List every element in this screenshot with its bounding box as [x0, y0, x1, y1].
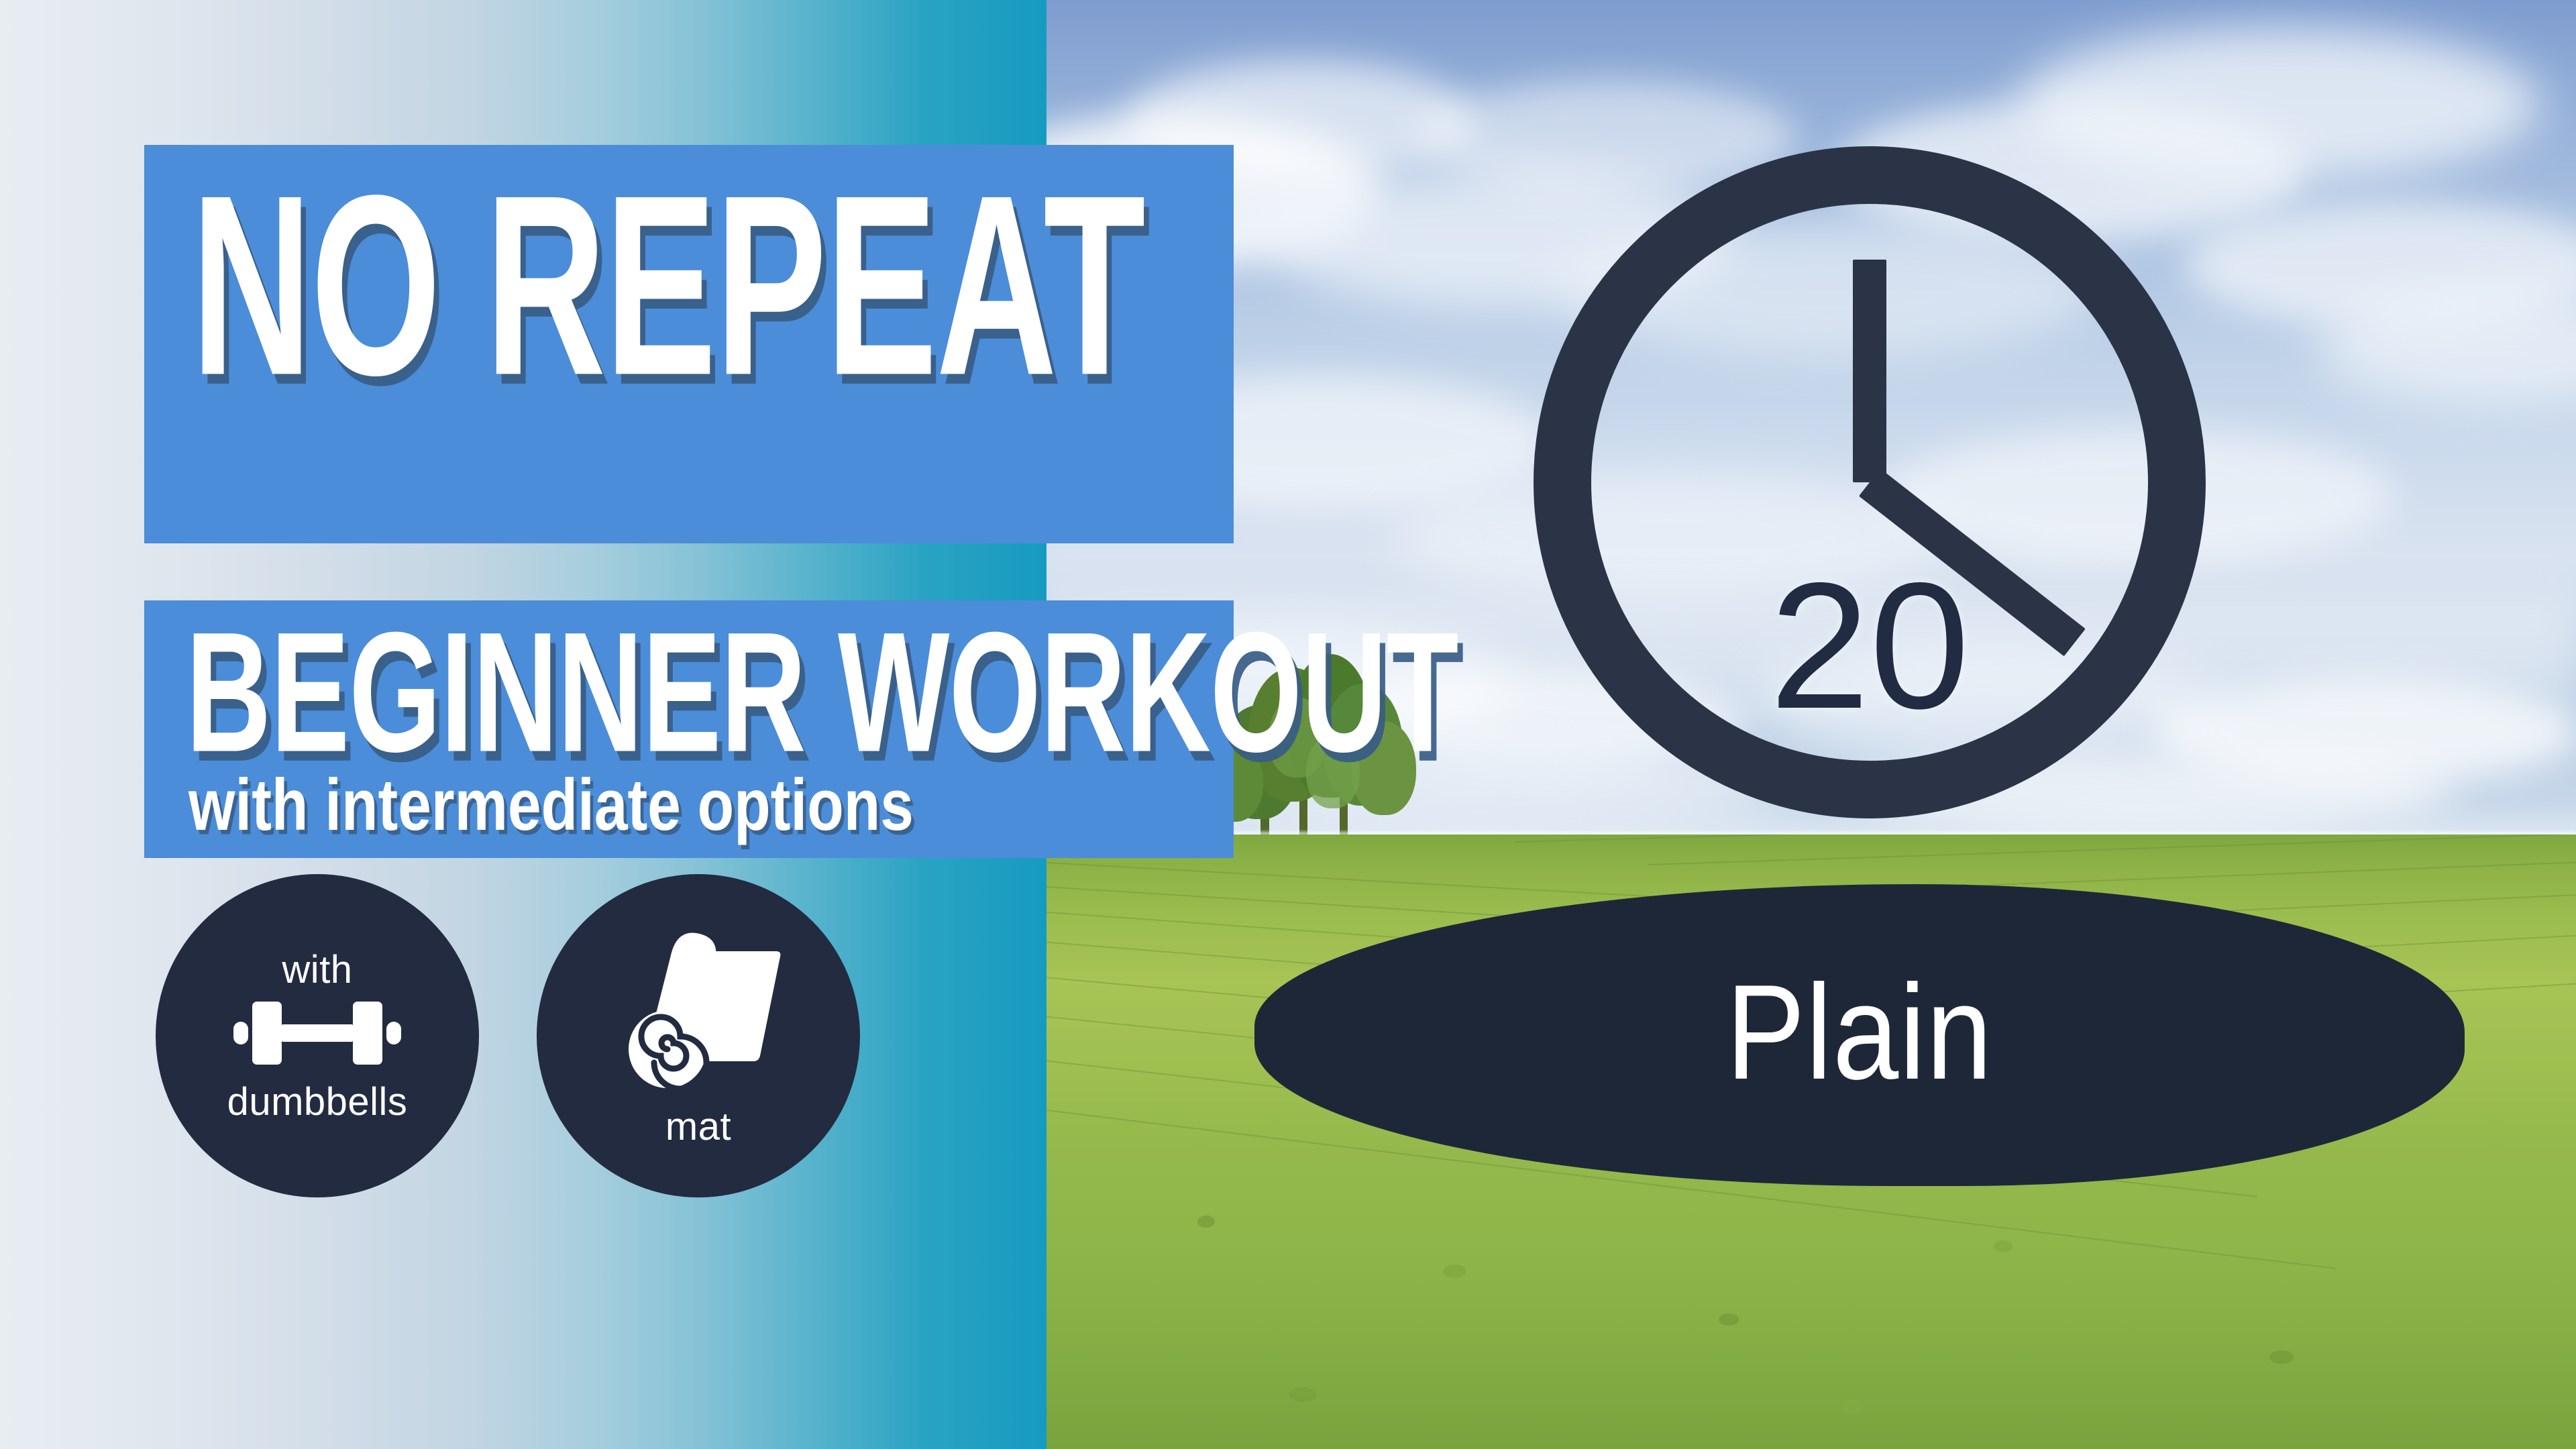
subhead-banner: BEGINNER WORKOUT with intermediate optio…	[144, 600, 1234, 858]
plain-label: Plain	[1726, 965, 1993, 1099]
yoga-mat-roll-icon	[608, 922, 788, 1097]
clock-duration-label: 20	[1534, 555, 2206, 735]
badge-dumbbells-bottom-label: dumbbells	[227, 1083, 408, 1122]
headline-banner: NO REPEAT	[144, 145, 1234, 543]
badge-dumbbells: with dumbbells	[156, 874, 479, 1197]
poster-canvas: NO REPEAT BEGINNER WORKOUT with intermed…	[0, 0, 2576, 1449]
badge-mat-bottom-label: mat	[665, 1108, 731, 1146]
plain-pill: Plain	[1254, 884, 2465, 1186]
tagline-text: with intermediate options	[189, 768, 914, 841]
badge-mat: mat	[537, 874, 860, 1197]
dumbbell-icon	[233, 992, 401, 1076]
badge-dumbbells-top-label: with	[282, 951, 352, 989]
subhead-text: BEGINNER WORKOUT	[186, 607, 1458, 778]
clock-hour-hand	[1853, 260, 1886, 482]
headline-text: NO REPEAT	[191, 157, 1144, 414]
clock-icon: 20	[1534, 146, 2206, 818]
